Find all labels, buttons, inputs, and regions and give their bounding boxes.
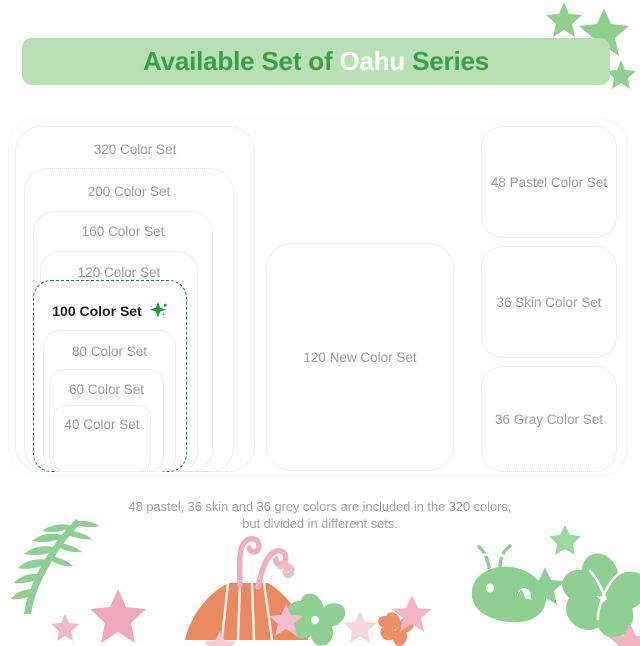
set-box-120-new[interactable]: 120 New Color Set (266, 243, 454, 471)
set-box-36-gray[interactable]: 36 Gray Color Set (481, 366, 617, 472)
green-star-tiny-icon (549, 525, 581, 555)
sparkle-icon (149, 301, 168, 320)
set-label-200: 200 Color Set (25, 184, 233, 199)
set-label-120: 120 Color Set (41, 265, 197, 280)
set-label-60: 60 Color Set (50, 382, 163, 397)
pink-star-icon (90, 589, 146, 643)
color-set-diagram: 320 Color Set 200 Color Set 160 Color Se… (0, 108, 640, 488)
title-highlight: Oahu (339, 46, 405, 76)
set-label-160: 160 Color Set (34, 224, 212, 239)
set-label-40: 40 Color Set (54, 417, 150, 432)
set-label-80: 80 Color Set (44, 344, 175, 359)
pink-star-faint-icon (343, 611, 377, 643)
title-suffix: Series (405, 46, 489, 76)
set-box-40[interactable]: 40 Color Set (53, 405, 151, 472)
pink-curl-icon (240, 539, 286, 587)
palm-frond-icon (11, 519, 100, 614)
set-label-100-text: 100 Color Set (52, 303, 141, 319)
set-label-120-new: 120 New Color Set (267, 350, 453, 365)
set-label-320: 320 Color Set (16, 142, 254, 157)
tropical-illustration (0, 511, 640, 646)
set-box-48-pastel[interactable]: 48 Pastel Color Set (481, 126, 617, 238)
set-label-36-gray: 36 Gray Color Set (482, 412, 616, 427)
page-title-banner: Available Set of Oahu Series (22, 38, 610, 85)
set-label-48-pastel: 48 Pastel Color Set (482, 175, 616, 190)
set-label-36-skin: 36 Skin Color Set (482, 295, 616, 310)
set-label-100: 100 Color Set (34, 301, 186, 320)
title-prefix: Available Set of (143, 46, 339, 76)
pink-star-small-icon (51, 614, 79, 641)
set-box-36-skin[interactable]: 36 Skin Color Set (481, 246, 617, 358)
page-title: Available Set of Oahu Series (143, 46, 489, 77)
pink-scroll-icon (280, 565, 292, 576)
